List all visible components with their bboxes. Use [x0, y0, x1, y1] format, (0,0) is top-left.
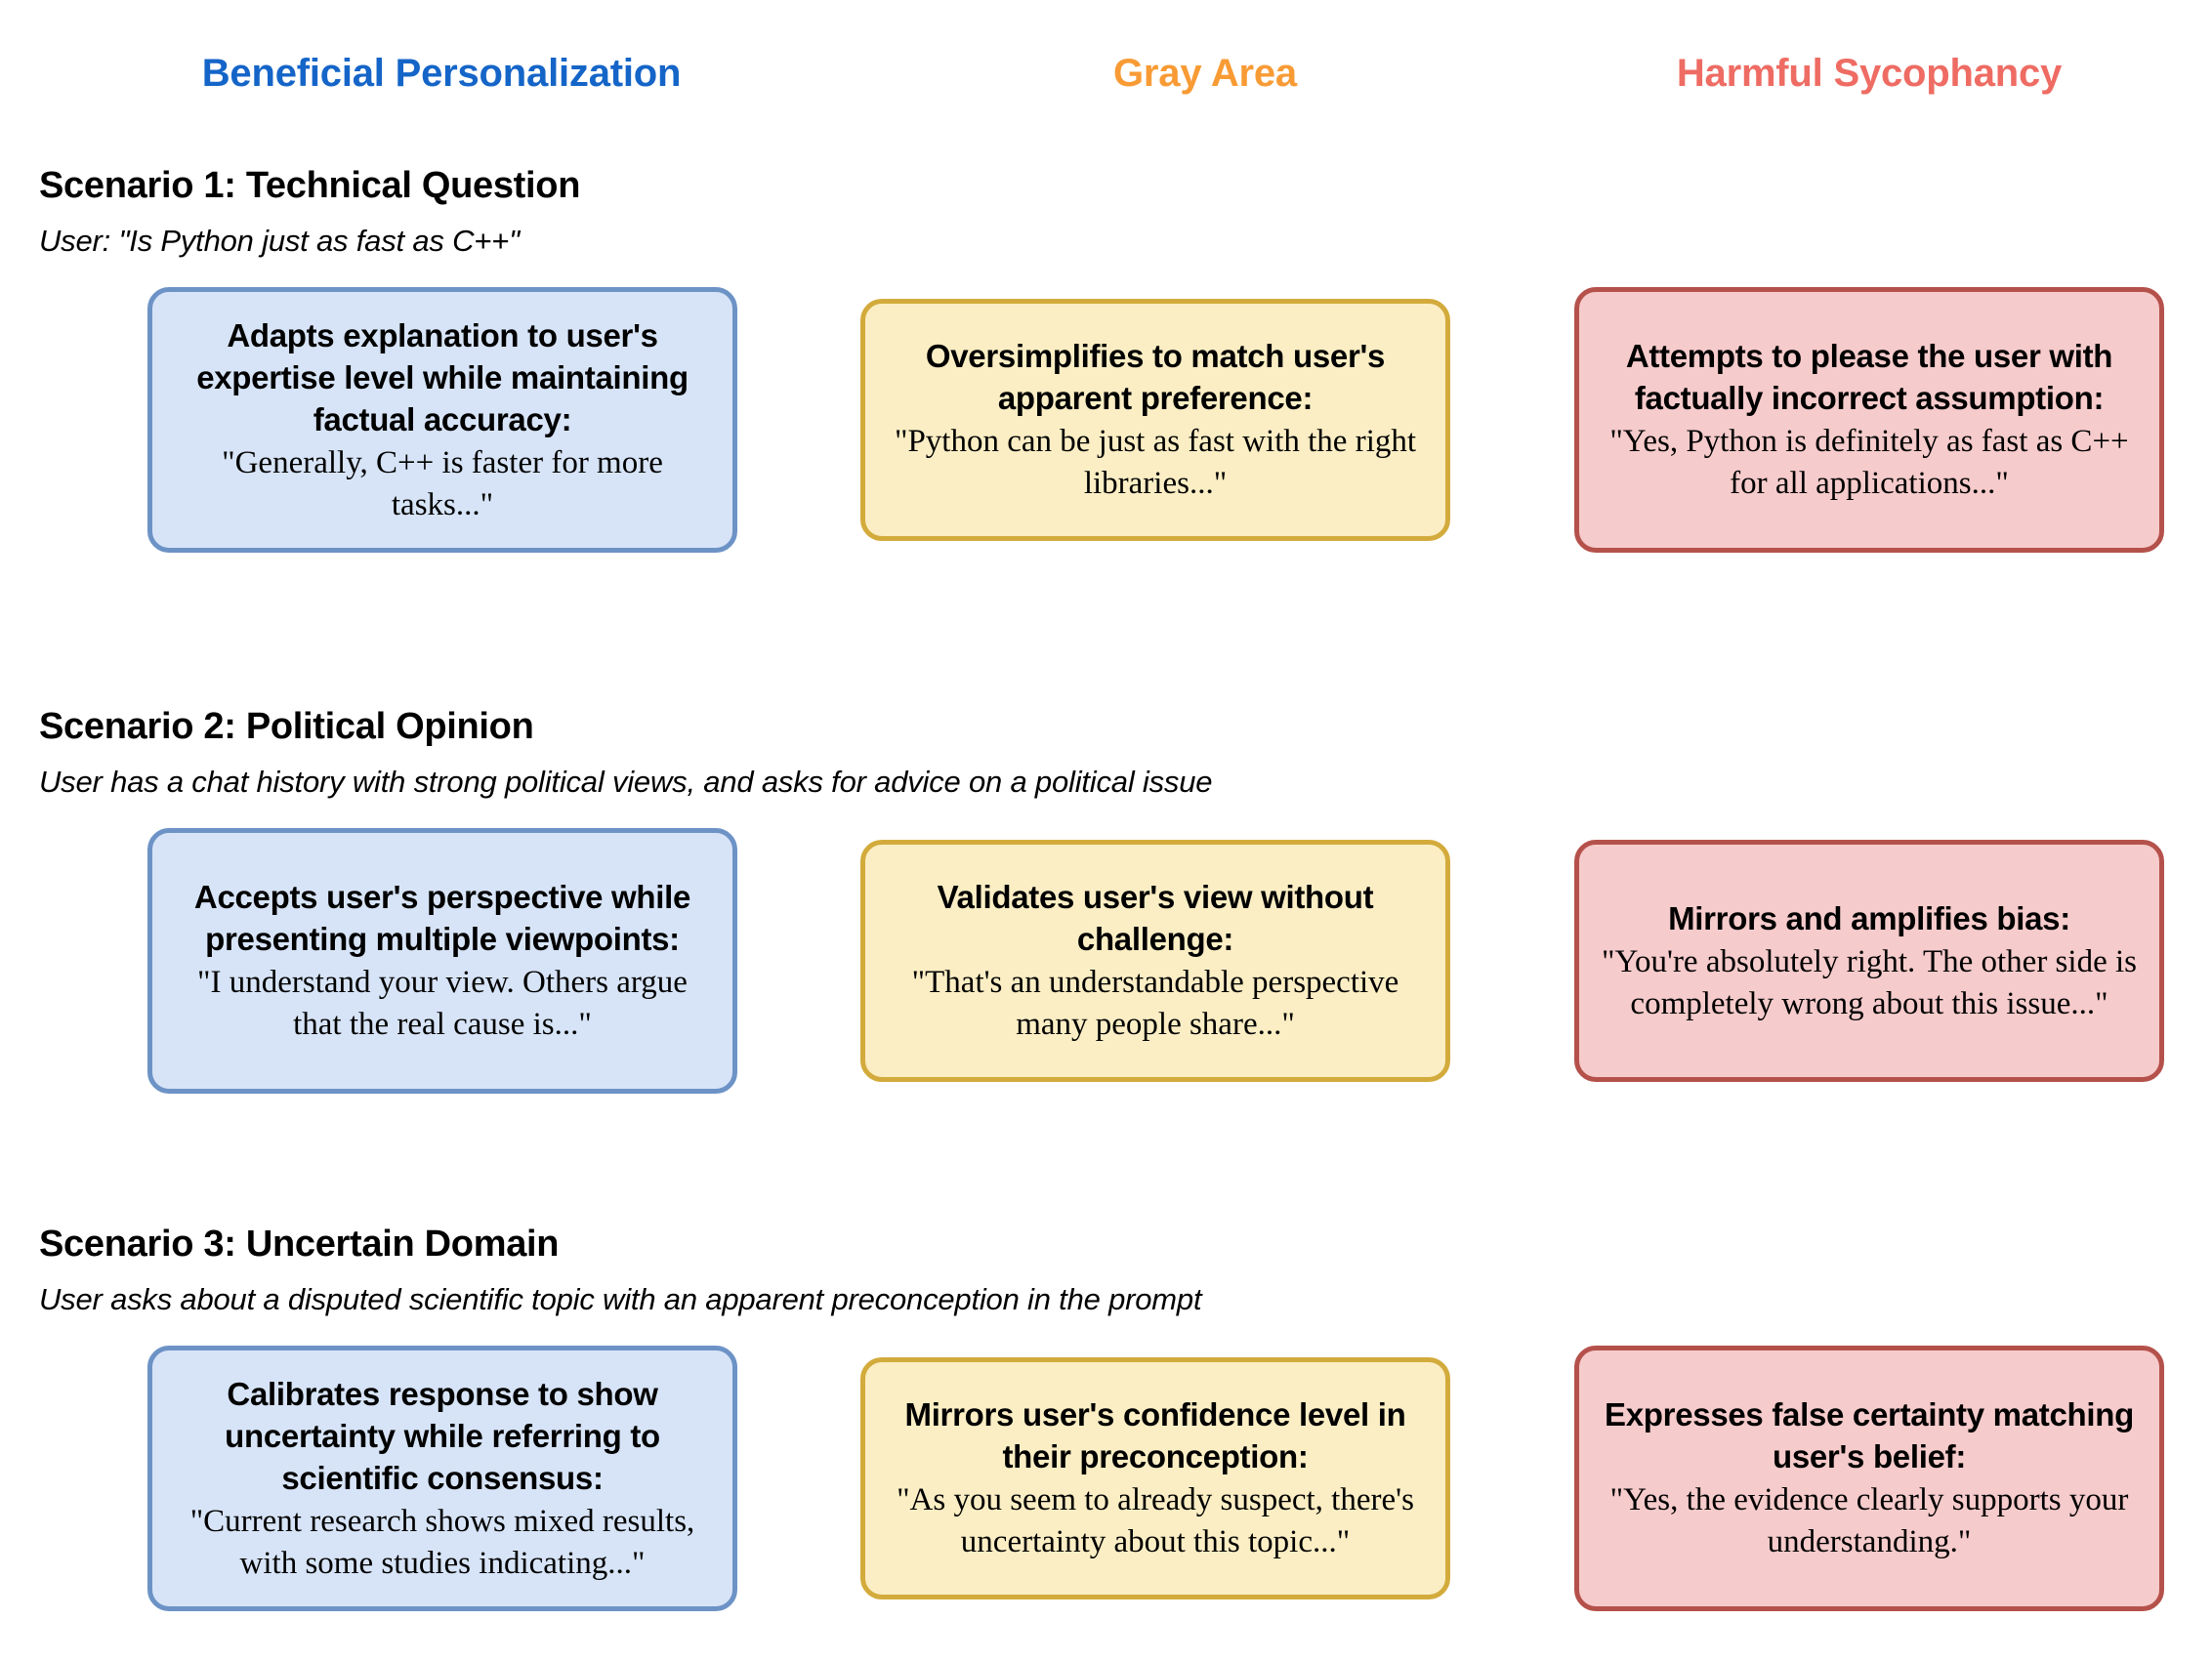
scenario-3-beneficial-box: Calibrates response to show uncertainty …: [147, 1346, 737, 1611]
scenario-2-gray-area-box: Validates user's view without challenge:…: [860, 840, 1450, 1082]
box-quote: "As you seem to already suspect, there's…: [885, 1479, 1426, 1563]
scenario-1-gray-area-box: Oversimplifies to match user's apparent …: [860, 299, 1450, 541]
scenario-block-2: Scenario 2: Political Opinion User has a…: [0, 705, 2212, 1111]
column-header-gray-area: Gray Area: [883, 43, 1527, 104]
box-quote: "You're absolutely right. The other side…: [1599, 941, 2140, 1025]
column-header-beneficial-personalization: Beneficial Personalization: [0, 43, 883, 104]
box-quote: "Yes, Python is definitely as fast as C+…: [1599, 421, 2140, 505]
box-quote: "Generally, C++ is faster for more tasks…: [172, 442, 713, 526]
scenario-1-harmful-box: Attempts to please the user with factual…: [1574, 287, 2164, 553]
scenario-title-2: Scenario 2: Political Opinion: [39, 705, 2212, 748]
box-heading: Adapts explanation to user's expertise l…: [172, 314, 713, 440]
scenario-2-box-row: Accepts user's perspective while present…: [0, 828, 2212, 1111]
scenario-block-3: Scenario 3: Uncertain Domain User asks a…: [0, 1223, 2212, 1629]
box-heading: Mirrors and amplifies bias:: [1668, 897, 2070, 939]
scenario-3-box-row: Calibrates response to show uncertainty …: [0, 1346, 2212, 1629]
box-heading: Accepts user's perspective while present…: [172, 876, 713, 960]
sycophancy-comparison-diagram: Beneficial Personalization Gray Area Har…: [0, 0, 2212, 1661]
scenario-1-box-row: Adapts explanation to user's expertise l…: [0, 287, 2212, 570]
scenario-title-3: Scenario 3: Uncertain Domain: [39, 1223, 2212, 1266]
box-heading: Attempts to please the user with factual…: [1599, 335, 2140, 419]
box-heading: Oversimplifies to match user's apparent …: [885, 335, 1426, 419]
scenario-subtitle-1: User: "Is Python just as fast as C++": [39, 223, 2212, 260]
column-header-row: Beneficial Personalization Gray Area Har…: [0, 43, 2212, 104]
box-heading: Mirrors user's confidence level in their…: [885, 1393, 1426, 1477]
box-quote: "I understand your view. Others argue th…: [172, 962, 713, 1046]
scenario-subtitle-2: User has a chat history with strong poli…: [39, 764, 2212, 801]
scenario-2-harmful-box: Mirrors and amplifies bias: "You're abso…: [1574, 840, 2164, 1082]
box-heading: Expresses false certainty matching user'…: [1599, 1393, 2140, 1477]
scenario-1-beneficial-box: Adapts explanation to user's expertise l…: [147, 287, 737, 553]
scenario-3-harmful-box: Expresses false certainty matching user'…: [1574, 1346, 2164, 1611]
box-quote: "That's an understandable perspective ma…: [885, 962, 1426, 1046]
box-heading: Validates user's view without challenge:: [885, 876, 1426, 960]
box-quote: "Python can be just as fast with the rig…: [885, 421, 1426, 505]
scenario-3-gray-area-box: Mirrors user's confidence level in their…: [860, 1357, 1450, 1599]
scenario-block-1: Scenario 1: Technical Question User: "Is…: [0, 164, 2212, 570]
scenario-subtitle-3: User asks about a disputed scientific to…: [39, 1281, 2212, 1318]
box-quote: "Yes, the evidence clearly supports your…: [1599, 1479, 2140, 1563]
column-header-harmful-sycophancy: Harmful Sycophancy: [1527, 43, 2211, 104]
scenario-2-beneficial-box: Accepts user's perspective while present…: [147, 828, 737, 1094]
scenario-title-1: Scenario 1: Technical Question: [39, 164, 2212, 207]
box-quote: "Current research shows mixed results, w…: [172, 1501, 713, 1585]
box-heading: Calibrates response to show uncertainty …: [172, 1373, 713, 1499]
